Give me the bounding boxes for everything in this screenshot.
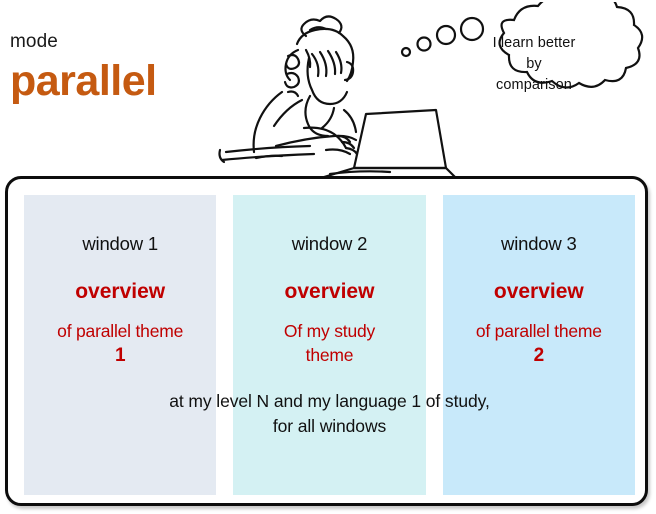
window-2-title: window 2	[233, 234, 425, 254]
window-2-subtitle-text: Of my study	[284, 321, 375, 341]
panels-row: window 1 overview of parallel theme 1 wi…	[24, 195, 635, 495]
window-1-subtitle: of parallel theme 1	[24, 320, 216, 368]
windows-container: window 1 overview of parallel theme 1 wi…	[5, 176, 648, 506]
window-3-subtitle: of parallel theme 2	[443, 320, 635, 368]
window-1-subtitle-text: of parallel theme	[57, 321, 183, 341]
window-2-emphasis: theme	[233, 344, 425, 366]
header-block: mode parallel	[10, 32, 240, 104]
bubble-text-line-2: by	[462, 54, 606, 75]
bubble-text-line-3: comparison	[462, 75, 606, 96]
thought-bubble-text: I learn better by comparison	[462, 33, 606, 96]
window-3-title: window 3	[443, 234, 635, 254]
window-panel-3[interactable]: window 3 overview of parallel theme 2	[443, 195, 635, 495]
window-panel-1[interactable]: window 1 overview of parallel theme 1	[24, 195, 216, 495]
mode-label: mode	[10, 32, 240, 53]
window-3-heading: overview	[443, 280, 635, 303]
window-panel-2[interactable]: window 2 overview Of my study theme	[233, 195, 425, 495]
window-3-subtitle-text: of parallel theme	[476, 321, 602, 341]
window-1-heading: overview	[24, 280, 216, 303]
window-1-emphasis: 1	[24, 344, 216, 368]
window-2-subtitle: Of my study theme	[233, 320, 425, 366]
window-1-title: window 1	[24, 234, 216, 254]
window-3-emphasis: 2	[443, 344, 635, 368]
window-2-heading: overview	[233, 280, 425, 303]
bubble-text-line-1: I learn better	[462, 33, 606, 54]
mode-value: parallel	[10, 59, 240, 104]
